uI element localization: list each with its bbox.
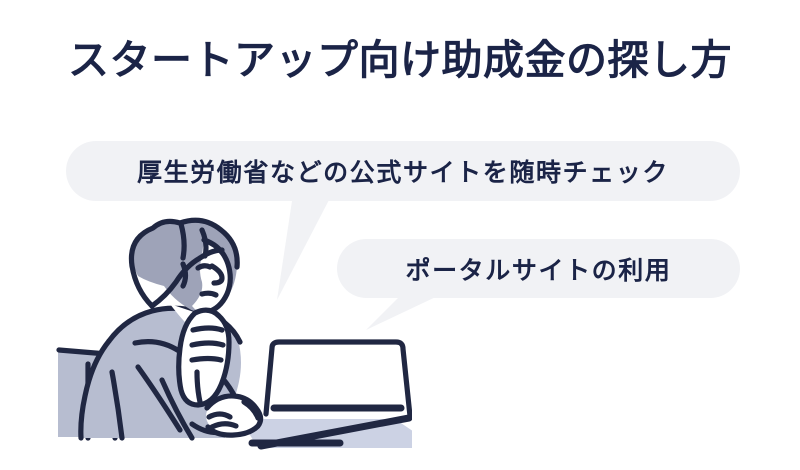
speech-bubble-official-sites: 厚生労働省などの公式サイトを随時チェック: [66, 141, 740, 201]
knuckle-line-1: [193, 328, 222, 330]
hair-strand: [181, 224, 184, 258]
infographic-canvas: スタートアップ向け助成金の探し方 厚生労働省などの公式サイトを随時チェック ポー…: [0, 0, 800, 470]
illustration-man-thinking-at-laptop: [52, 212, 412, 460]
finger-line-1: [209, 414, 230, 417]
ear: [183, 264, 186, 286]
knuckle-line-2: [192, 343, 223, 345]
speech-bubble-text: 厚生労働省などの公式サイトを随時チェック: [66, 153, 740, 189]
page-title: スタートアップ向け助成金の探し方: [0, 36, 800, 85]
eyebrow: [198, 266, 210, 268]
mouth: [202, 293, 216, 295]
knuckle-line-3: [192, 359, 221, 361]
thumb-line: [197, 372, 200, 402]
